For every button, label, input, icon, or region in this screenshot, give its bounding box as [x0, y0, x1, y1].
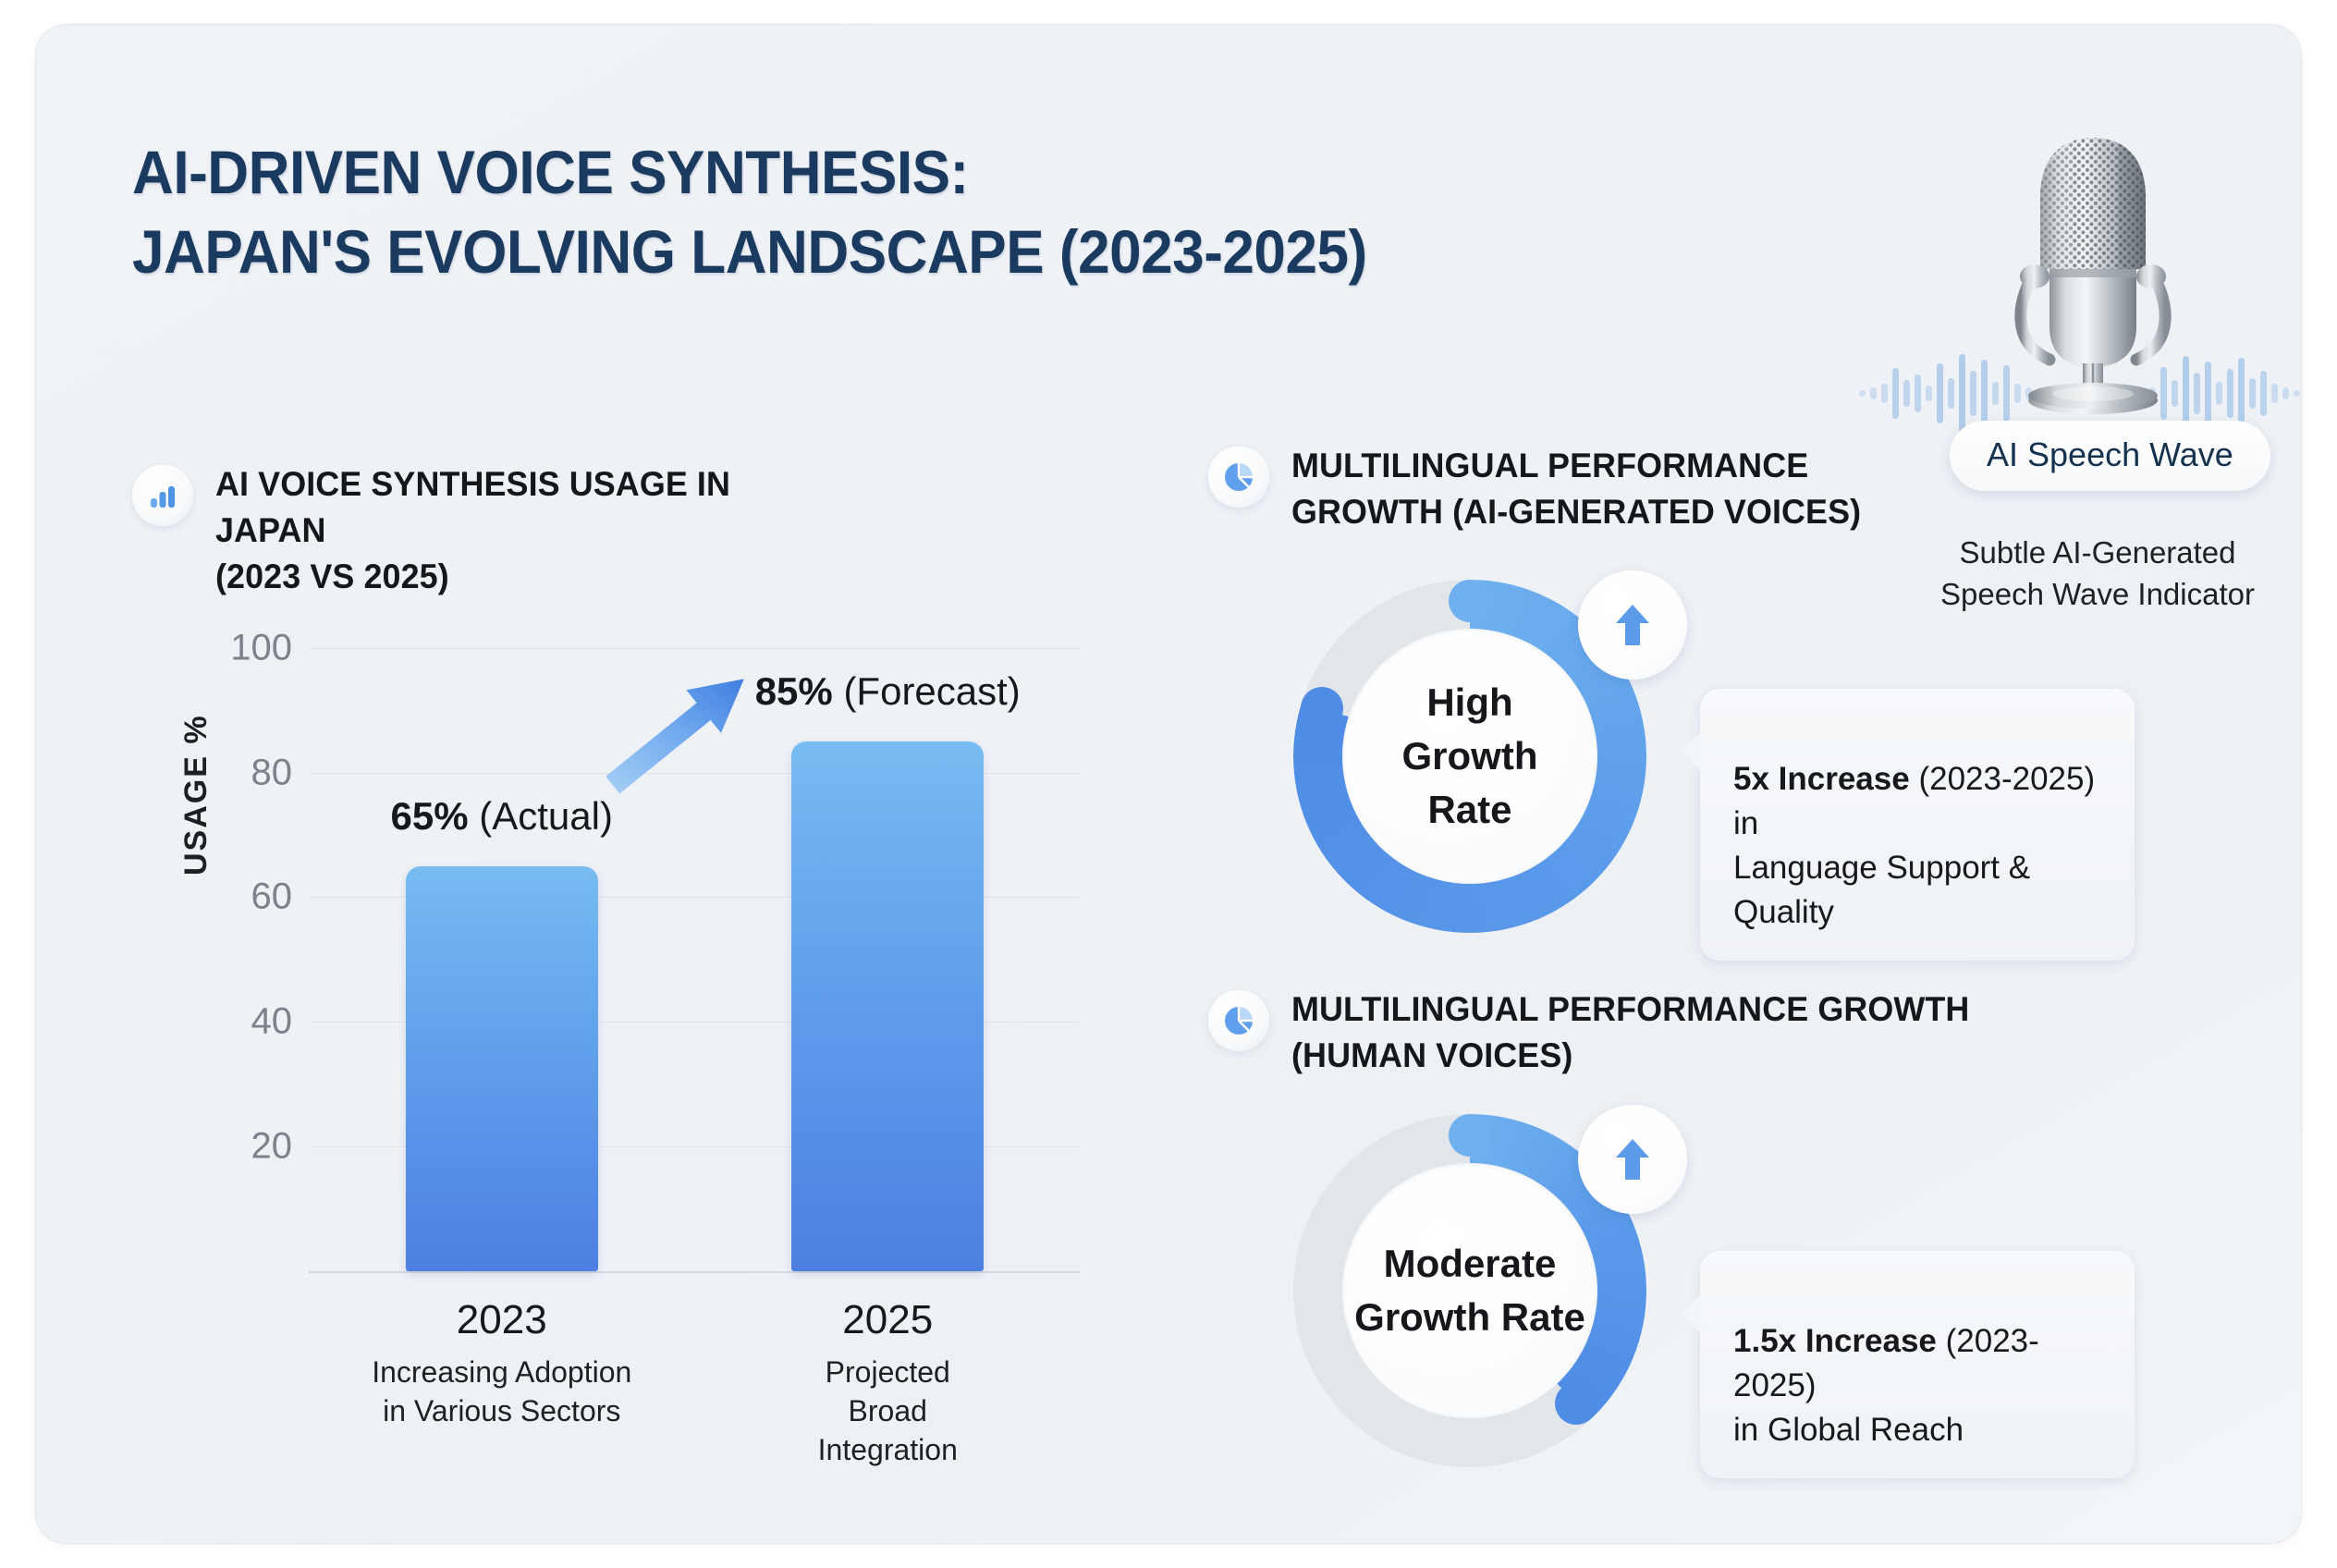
- usage-bar-chart: USAGE % 2040608010065% (Actual)2023Incre…: [165, 598, 1099, 1347]
- x-axis-category-sublabel: Projected Broad Integration: [791, 1353, 985, 1469]
- gauge-center-label: High Growth Rate: [1402, 676, 1538, 837]
- gauge-arc-start-cap: [1449, 580, 1491, 622]
- growth-callout-1: 5x Increase (2023-2025) in Language Supp…: [1700, 689, 2135, 961]
- gauge-arc-start-cap: [1449, 1114, 1491, 1157]
- human-voices-growth-gauge: Moderate Growth Rate: [1293, 1114, 1646, 1467]
- bar-value-label: 85% (Forecast): [755, 669, 1021, 714]
- gauge-center-label: Moderate Growth Rate: [1354, 1237, 1585, 1344]
- bar-chart-section-header: AI VOICE SYNTHESIS USAGE IN JAPAN (2023 …: [132, 461, 835, 600]
- growth-section-1-title: MULTILINGUAL PERFORMANCE GROWTH (AI-GENE…: [1291, 443, 1861, 535]
- gauge-arc-end-cap: [1301, 687, 1343, 729]
- x-axis-line: [309, 1271, 1081, 1273]
- y-axis-tick: 100: [230, 627, 292, 668]
- bar-value-label: 65% (Actual): [391, 794, 613, 839]
- bar-chart-section-title: AI VOICE SYNTHESIS USAGE IN JAPAN (2023 …: [215, 461, 816, 600]
- gridline: 100: [309, 648, 1081, 649]
- pie-chart-icon: [1208, 990, 1269, 1051]
- ai-speech-wave-pill: AI Speech Wave: [1950, 421, 2270, 491]
- up-arrow-icon: [1578, 1105, 1687, 1214]
- growth-callout-1-emphasis: 5x Increase: [1733, 761, 1910, 797]
- y-axis-tick: 80: [251, 752, 293, 793]
- x-axis-category: 2023Increasing Adoption in Various Secto…: [372, 1292, 631, 1430]
- y-axis-tick: 20: [251, 1126, 293, 1168]
- infographic-card: AI-DRIVEN VOICE SYNTHESIS: JAPAN'S EVOLV…: [35, 24, 2302, 1544]
- gauge-center-label-wrap: Moderate Growth Rate: [1342, 1163, 1597, 1418]
- microphone-icon: [1998, 130, 2188, 419]
- ai-voices-growth-gauge: High Growth Rate: [1293, 580, 1646, 933]
- gauge-center-label-wrap: High Growth Rate: [1342, 629, 1597, 884]
- y-axis-tick: 40: [251, 1001, 293, 1043]
- chart-plot-area: 2040608010065% (Actual)2023Increasing Ad…: [309, 617, 1081, 1271]
- pie-chart-icon: [1208, 447, 1269, 508]
- x-axis-category-year: 2023: [372, 1292, 631, 1349]
- chart-bar: [791, 741, 984, 1271]
- growth-callout-2: 1.5x Increase (2023-2025) in Global Reac…: [1700, 1251, 2135, 1478]
- x-axis-category-year: 2025: [791, 1292, 985, 1349]
- y-axis-tick: 60: [251, 876, 293, 918]
- growth-callout-2-emphasis: 1.5x Increase: [1733, 1323, 1937, 1359]
- growth-section-1-header: MULTILINGUAL PERFORMANCE GROWTH (AI-GENE…: [1208, 443, 1948, 535]
- bar-value-number: 65%: [391, 794, 480, 838]
- chart-bar: [406, 866, 598, 1271]
- bar-value-qualifier: (Actual): [479, 794, 613, 838]
- speech-wave-indicator: AI Speech Wave Subtle AI-Generated Speec…: [1876, 114, 2302, 548]
- up-arrow-icon: [1578, 570, 1687, 680]
- bar-value-number: 85%: [755, 669, 844, 713]
- speech-wave-caption: Subtle AI-Generated Speech Wave Indicato…: [1848, 532, 2302, 615]
- growth-section-2-header: MULTILINGUAL PERFORMANCE GROWTH (HUMAN V…: [1208, 986, 2040, 1079]
- page-title: AI-DRIVEN VOICE SYNTHESIS: JAPAN'S EVOLV…: [132, 132, 1558, 291]
- x-axis-category-sublabel: Increasing Adoption in Various Sectors: [372, 1353, 631, 1430]
- bar-chart-icon: [132, 465, 193, 526]
- growth-section-2-title: MULTILINGUAL PERFORMANCE GROWTH (HUMAN V…: [1291, 986, 1969, 1079]
- bar-value-qualifier: (Forecast): [843, 669, 1020, 713]
- x-axis-category: 2025Projected Broad Integration: [791, 1292, 985, 1469]
- y-axis-label: USAGE %: [178, 714, 214, 876]
